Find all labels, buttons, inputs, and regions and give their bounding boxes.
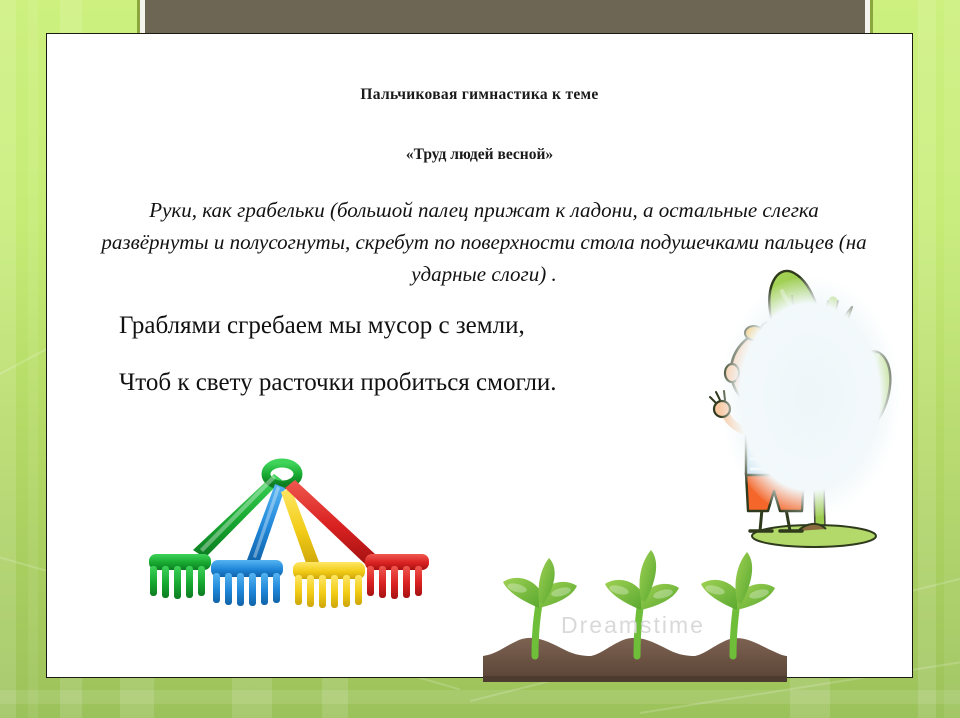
toy-rakes-svg: [143, 458, 435, 618]
illustration-halo: [720, 277, 900, 517]
toy-rakes-illustration: [143, 458, 435, 618]
seedlings-svg: [479, 534, 791, 686]
page-title: Пальчиковая гимнастика к теме: [47, 86, 912, 104]
verse-line-2: Чтоб к свету расточки пробиться смогли.: [119, 369, 557, 397]
verse-line-1: Граблями сгребаем мы мусор с земли,: [119, 312, 525, 340]
boy-with-plant-illustration: [702, 259, 917, 549]
content-card: Пальчиковая гимнастика к теме «Труд люде…: [46, 33, 913, 678]
slide: Пальчиковая гимнастика к теме «Труд люде…: [0, 0, 960, 718]
content-area: Пальчиковая гимнастика к теме «Труд люде…: [47, 34, 912, 677]
seedlings-illustration: Dreamstime: [479, 534, 791, 686]
stock-watermark: Dreamstime: [503, 612, 763, 639]
page-subtitle: «Труд людей весной»: [47, 146, 912, 164]
